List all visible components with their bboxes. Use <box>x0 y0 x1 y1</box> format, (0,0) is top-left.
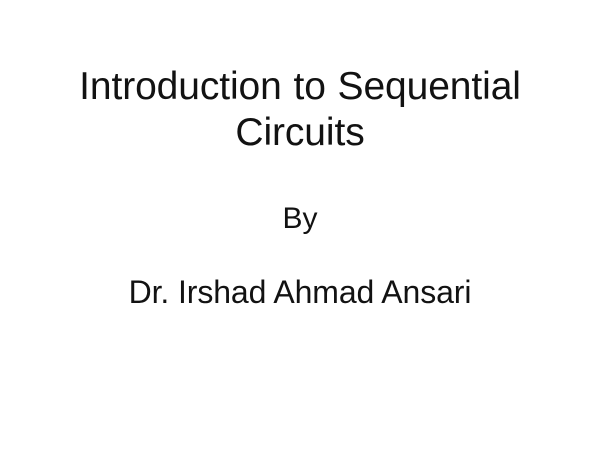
page-title: Introduction to Sequential Circuits <box>60 64 540 156</box>
presentation-slide: Introduction to Sequential Circuits By D… <box>0 0 600 450</box>
slide-empty-area <box>0 330 600 450</box>
title-placeholder: Introduction to Sequential Circuits <box>60 64 540 156</box>
author-name: Dr. Irshad Ahmad Ansari <box>60 238 540 312</box>
subtitle-placeholder: By Dr. Irshad Ahmad Ansari <box>60 200 540 312</box>
byline-label: By <box>60 200 540 238</box>
